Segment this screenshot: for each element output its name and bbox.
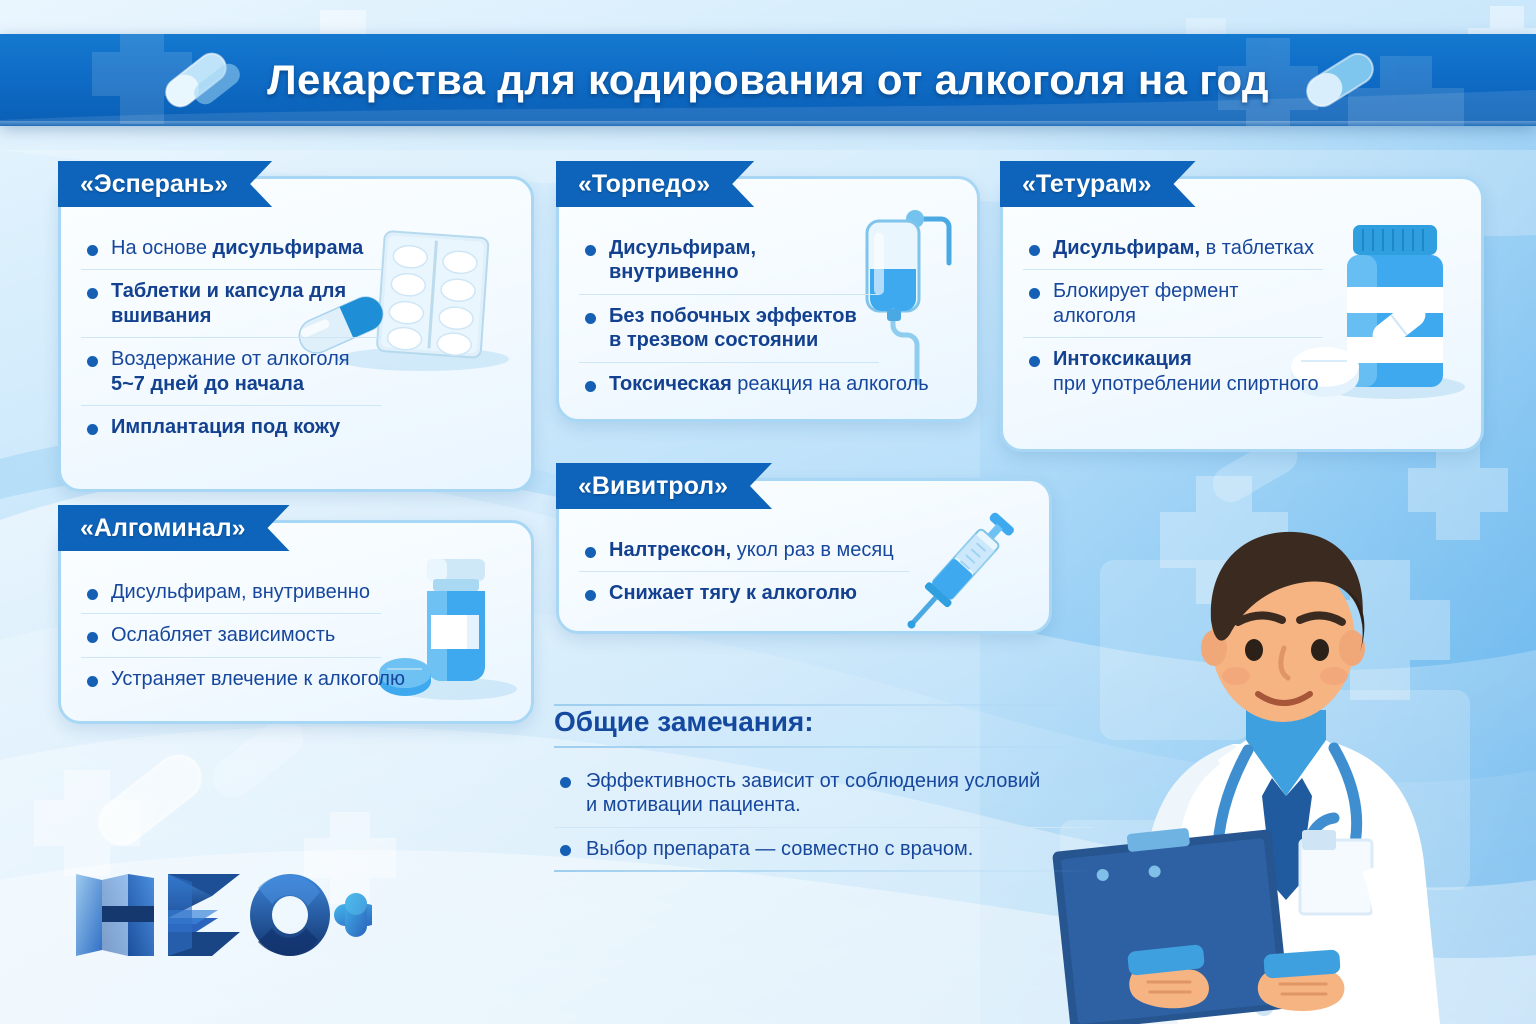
list-item-emphasis: Налтрексон,: [609, 539, 731, 561]
card-title-label: «Тетурам»: [1022, 170, 1152, 199]
syringe-illustration: [885, 503, 1045, 633]
bullet-dot: [87, 356, 98, 367]
card-teturam[interactable]: «Тетурам»: [1000, 176, 1484, 452]
list-item-text: в таблетках: [1200, 237, 1314, 259]
card-title-label: «Алгоминал»: [80, 514, 246, 543]
card-title-ribbon: «Алгоминал»: [58, 505, 290, 551]
header-banner: Лекарства для кодирования от алкоголя на…: [0, 34, 1536, 126]
page-title: Лекарства для кодирования от алкоголя на…: [267, 56, 1269, 104]
list-item-text: реакция на алкоголь: [737, 373, 928, 395]
list-item: Интоксикация при употреблении спиртного: [1023, 337, 1323, 405]
list-item-emphasis: дисульфирама: [213, 237, 364, 259]
logo-letter-n: [76, 874, 154, 956]
list-item: На основе дисульфирама: [81, 227, 381, 269]
list-item-emphasis: Интоксикация: [1053, 348, 1192, 370]
bullet-dot: [585, 547, 596, 558]
card-esperal[interactable]: «Эсперань»: [58, 176, 534, 492]
bullet-dot: [87, 288, 98, 299]
list-item-text: при употреблении спиртного: [1053, 373, 1319, 395]
card-vivitrol[interactable]: «Вивитрол» Налтрексон, укол ра: [556, 478, 1052, 634]
list-item-text: укол раз в месяц: [731, 539, 894, 561]
list-item-emphasis: 5~7 дней до начала: [111, 373, 304, 395]
capsule-icon: [151, 50, 241, 110]
list-item: Имплантация под кожу: [81, 405, 381, 448]
list-item-text: Воздержание от алкоголя: [111, 348, 350, 370]
card-torpedo[interactable]: «Торпедо» Дисульфирам, внутривенно Без п…: [556, 176, 980, 422]
list-item: Снижает тягу к алкоголю: [579, 571, 909, 614]
list-item: Дисульфирам, внутривенно: [579, 227, 879, 294]
list-item: Устраняет влечение к алкоголю: [81, 657, 381, 700]
list-item-text: Устраняет влечение к алкоголю: [111, 668, 405, 690]
list-item: Блокирует фермент алкоголя: [1023, 269, 1323, 337]
card-title-label: «Вивитрол»: [578, 472, 728, 501]
capsule-icon: [1295, 50, 1385, 110]
list-item-text: Выбор препарата — совместно с врачом.: [586, 838, 973, 860]
list-item: Дисульфирам, внутривенно: [81, 571, 381, 613]
notes-title: Общие замечания:: [554, 706, 1094, 746]
card-title-label: «Эсперань»: [80, 170, 228, 199]
list-item-text: Эффективность зависит от соблюдения усло…: [586, 770, 1040, 816]
list-item-text: Таблетки и капсула для вшивания: [111, 280, 346, 326]
logo-letter-e: [168, 874, 240, 956]
list-item: Налтрексон, укол раз в месяц: [579, 529, 909, 571]
card-title-ribbon: «Торпедо»: [556, 161, 754, 207]
bullet-dot: [560, 777, 571, 788]
list-item: Ослабляет зависимость: [81, 613, 381, 656]
bullet-dot: [585, 381, 596, 392]
card-title-label: «Торпедо»: [578, 170, 710, 199]
plus-icon: [334, 893, 372, 937]
card-title-ribbon: «Вивитрол»: [556, 463, 772, 509]
list-item-emphasis: Дисульфирам,: [1053, 237, 1200, 259]
list-item-text: На основе: [111, 237, 213, 259]
general-notes-section: Общие замечания: Эффективность зависит о…: [554, 704, 1094, 872]
bullet-dot: [87, 424, 98, 435]
list-item-text: Имплантация под кожу: [111, 416, 340, 438]
bullet-dot: [87, 676, 98, 687]
list-item-text: Снижает тягу к алкоголю: [609, 582, 857, 604]
list-item: Дисульфирам, в таблетках: [1023, 227, 1323, 269]
bullet-dot: [560, 845, 571, 856]
card-algominal[interactable]: «Алгоминал» Дисульфирам, внутривенно: [58, 520, 534, 724]
infographic-root: Лекарства для кодирования от алкоголя на…: [0, 0, 1536, 1024]
list-item: Без побочных эффектов в трезвом состояни…: [579, 294, 879, 362]
list-item-text: Блокирует фермент алкоголя: [1053, 280, 1238, 326]
bullet-dot: [585, 590, 596, 601]
logo-letter-o: [250, 874, 330, 956]
bullet-dot: [87, 632, 98, 643]
notes-bottom-rule: [554, 870, 1094, 872]
list-item-text: Дисульфирам, внутривенно: [111, 581, 370, 603]
list-item-text: Ослабляет зависимость: [111, 624, 335, 646]
card-title-ribbon: «Тетурам»: [1000, 161, 1196, 207]
list-item-text: Без побочных эффектов в трезвом состояни…: [609, 305, 857, 351]
list-item-emphasis: Токсическая: [609, 373, 737, 395]
bullet-dot: [585, 245, 596, 256]
bullet-dot: [1029, 245, 1040, 256]
bullet-dot: [585, 313, 596, 324]
list-item: Выбор препарата — совместно с врачом.: [554, 827, 1094, 870]
list-item: Эффективность зависит от соблюдения усло…: [554, 760, 1094, 827]
doctor-with-clipboard-illustration: [1050, 500, 1536, 1024]
bullet-dot: [1029, 356, 1040, 367]
logo[interactable]: [72, 866, 372, 962]
bullet-dot: [1029, 288, 1040, 299]
list-item-text: Дисульфирам, внутривенно: [609, 237, 756, 283]
list-item: Токсическая реакция на алкоголь: [579, 362, 879, 405]
bullet-dot: [87, 245, 98, 256]
list-item: Воздержание от алкоголя 5~7 дней до нача…: [81, 337, 381, 405]
bullet-dot: [87, 589, 98, 600]
list-item: Таблетки и капсула для вшивания: [81, 269, 381, 337]
card-title-ribbon: «Эсперань»: [58, 161, 272, 207]
